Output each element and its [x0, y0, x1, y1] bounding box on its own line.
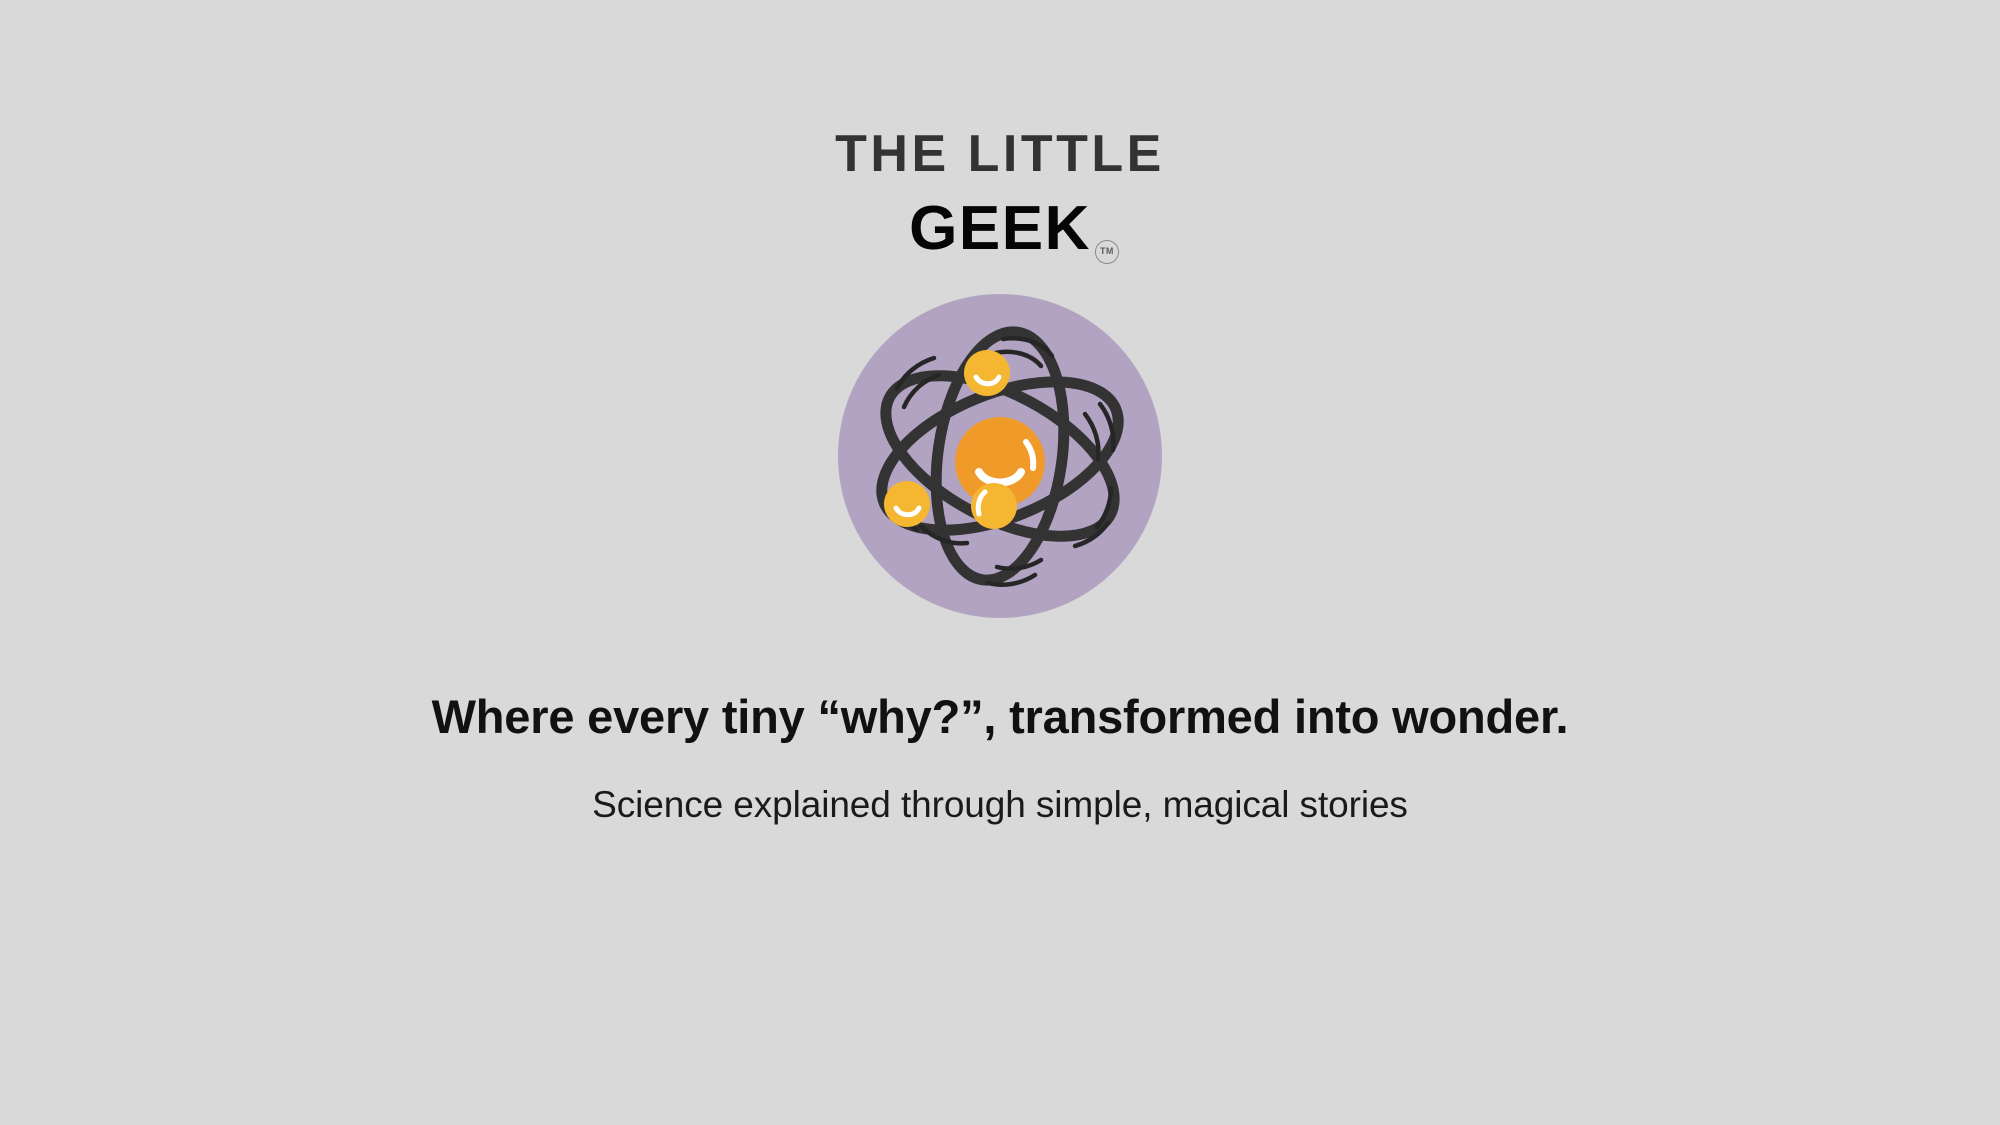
electron-top	[964, 350, 1010, 396]
tagline-secondary: Science explained through simple, magica…	[0, 783, 2000, 827]
wordmark-line-the-little: THE LITTLE	[0, 128, 2000, 180]
wordmark-line-geek: GEEK	[909, 194, 1091, 263]
wordmark-line-geek-wrap: GEEKTM	[0, 198, 2000, 260]
tagline-primary: Where every tiny “why?”, transformed int…	[0, 690, 2000, 744]
atom-logo	[838, 294, 1162, 618]
brand-wordmark: THE LITTLE GEEKTM	[0, 128, 2000, 260]
trademark-icon: TM	[1095, 240, 1119, 264]
brand-card-canvas: THE LITTLE GEEKTM	[0, 0, 2000, 1125]
electron-bottom-left	[884, 481, 930, 527]
electron-bottom-center	[971, 483, 1017, 529]
